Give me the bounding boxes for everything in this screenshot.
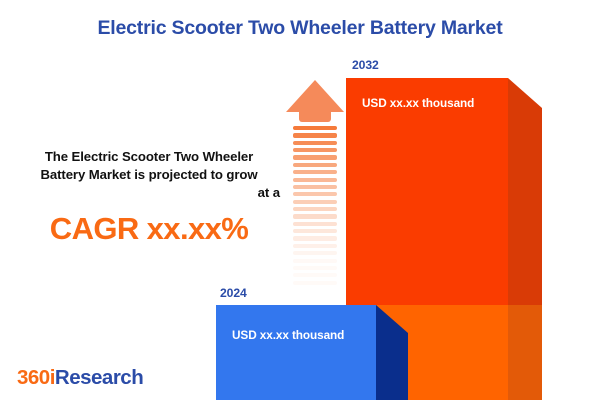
brand-logo-mark: 360i	[17, 366, 55, 389]
arrow-stripe	[293, 178, 337, 182]
arrow-neck	[299, 110, 331, 122]
bar-2024-face	[216, 305, 376, 400]
bar-value-2032: USD xx.xx thousand	[362, 96, 474, 110]
cagr-value: CAGR xx.xx%	[18, 212, 280, 246]
arrow-stripe	[293, 126, 337, 130]
arrow-stripe	[293, 244, 337, 248]
arrow-stripe	[293, 141, 337, 145]
arrow-stripe	[293, 170, 337, 174]
bar-2032-side-panel	[508, 78, 542, 400]
narrative-line-3: at a	[18, 184, 280, 202]
bar-2024	[216, 305, 376, 400]
market-growth-infographic: Electric Scooter Two Wheeler Battery Mar…	[0, 0, 600, 400]
brand-logo-word: Research	[55, 366, 143, 389]
arrow-stripe	[293, 185, 337, 189]
arrow-stripe-stack	[293, 126, 337, 288]
arrow-stripe	[293, 266, 337, 270]
arrow-stripe	[293, 133, 337, 137]
bar-2024-side-panel	[376, 305, 408, 400]
arrow-stripe	[293, 207, 337, 211]
narrative-block: The Electric Scooter Two Wheeler Battery…	[18, 148, 280, 246]
arrow-stripe	[293, 155, 337, 159]
arrow-stripe	[293, 200, 337, 204]
brand-logo: 360iResearch	[17, 366, 143, 390]
arrow-up-icon	[286, 80, 344, 114]
growth-arrow	[286, 80, 344, 288]
arrow-stripe	[293, 236, 337, 240]
page-title: Electric Scooter Two Wheeler Battery Mar…	[0, 17, 600, 40]
narrative-line-2: Battery Market is projected to grow	[18, 166, 280, 184]
arrow-stripe	[293, 281, 337, 285]
narrative-line-1: The Electric Scooter Two Wheeler	[18, 148, 280, 166]
arrow-stripe	[293, 148, 337, 152]
arrow-stripe	[293, 222, 337, 226]
arrow-stripe	[293, 192, 337, 196]
arrow-stripe	[293, 163, 337, 167]
arrow-stripe	[293, 214, 337, 218]
arrow-stripe	[293, 259, 337, 263]
bar-year-2032: 2032	[352, 58, 379, 72]
bar-year-2024: 2024	[220, 286, 247, 300]
arrow-stripe	[293, 229, 337, 233]
arrow-stripe	[293, 251, 337, 255]
arrow-stripe	[293, 273, 337, 277]
bar-value-2024: USD xx.xx thousand	[232, 328, 344, 342]
